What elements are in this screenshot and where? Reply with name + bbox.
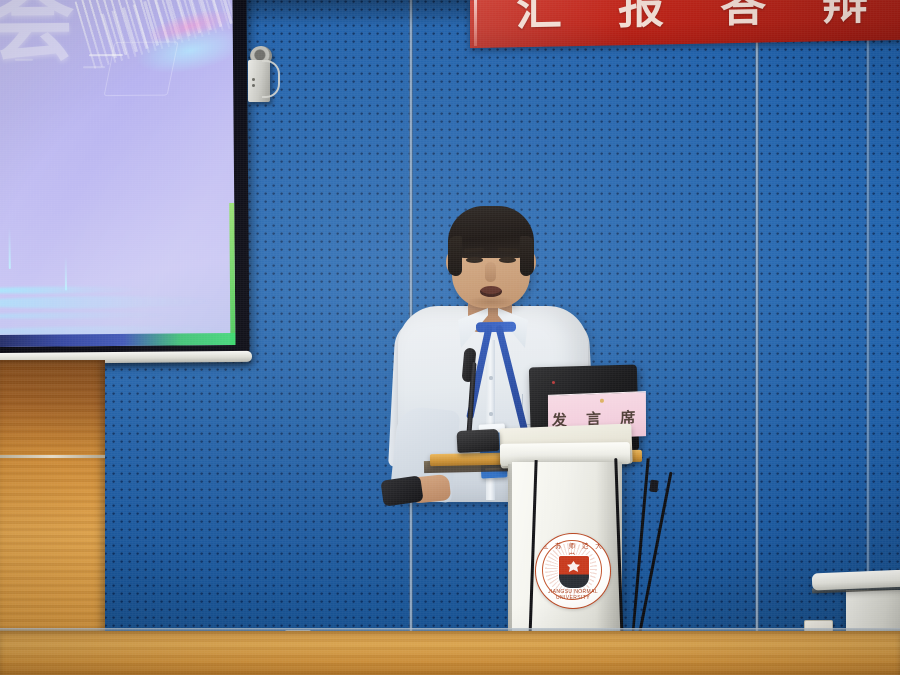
nose [485,262,496,282]
hair-side-right [520,236,534,276]
red-overhead-banner: 汇 报 答 辩 [470,0,900,48]
eye-right [499,257,516,263]
emblem-english-text: JIANGSU NORMAL UNIVERSITY [536,589,610,601]
banner-fold [474,0,477,46]
chin-shadow [466,296,516,308]
eye-left [466,257,483,263]
shirt-button [489,376,493,380]
university-emblem: 江 苏 师 范 大 学 JIANGSU NORMAL UNIVERSITY [535,533,611,609]
wood-panel-seam [0,455,105,458]
monitor-power-led [552,381,555,384]
wood-baseboard [0,631,900,675]
projection-screen: 会 [0,0,250,363]
conference-hall-photo: 汇 报 答 辩 会 [0,0,900,675]
screen-glare [0,0,235,347]
hair-side-left [448,236,462,276]
cable-clip [649,480,658,493]
handheld-dark-object [380,475,423,506]
emblem-shield-icon [558,555,590,589]
microphone-base[interactable] [456,429,499,453]
projection-screen-surface: 会 [0,0,235,347]
wall-speaker-indicator [252,78,255,81]
name-card-seal [600,399,604,403]
shirt-button [489,412,493,416]
wall-panel-seam [755,0,759,675]
